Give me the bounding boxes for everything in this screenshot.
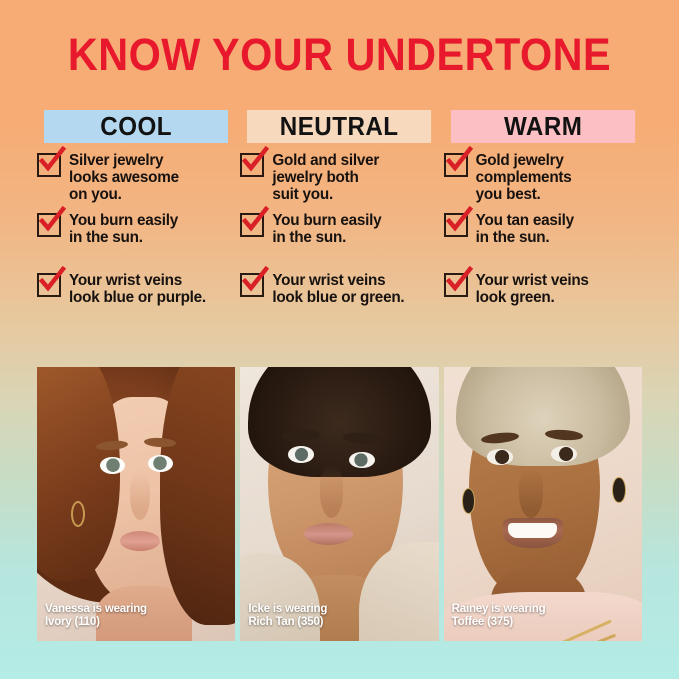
portrait-illustration-icke [240, 367, 438, 641]
checklist-item-label: Gold jewelry complements you best. [476, 152, 572, 203]
checklist-item-label: Your wrist veins look blue or purple. [69, 272, 206, 306]
checklist-grid: Silver jewelry looks awesome on you. Gol… [37, 152, 642, 332]
checklist-item-cool-3: Your wrist veins look blue or purple. [37, 272, 235, 332]
checkmark-icon [37, 213, 61, 237]
column-header-cool: COOL [44, 110, 228, 143]
model-photo-neutral: Icke is wearing Rich Tan (350) [240, 367, 438, 641]
checklist-item-cool-1: Silver jewelry looks awesome on you. [37, 152, 235, 212]
column-header-warm: WARM [451, 110, 635, 143]
checkmark-icon [444, 273, 468, 297]
model-photos: Vanessa is wearing Ivory (110) Icke is w… [37, 367, 642, 641]
checkmark-icon [240, 213, 264, 237]
checklist-item-warm-3: Your wrist veins look green. [444, 272, 642, 332]
checkmark-icon [444, 153, 468, 177]
checkmark-icon [240, 273, 264, 297]
column-header-neutral: NEUTRAL [247, 110, 431, 143]
photo-caption-warm: Rainey is wearing Toffee (375) [452, 603, 546, 629]
checklist-item-neutral-3: Your wrist veins look blue or green. [240, 272, 438, 332]
portrait-illustration-vanessa [37, 367, 235, 641]
checklist-item-neutral-2: You burn easily in the sun. [240, 212, 438, 272]
checklist-item-warm-2: You tan easily in the sun. [444, 212, 642, 272]
checklist-item-label: Your wrist veins look blue or green. [272, 272, 404, 306]
model-photo-warm: Rainey is wearing Toffee (375) [444, 367, 642, 641]
photo-caption-neutral: Icke is wearing Rich Tan (350) [248, 603, 327, 629]
checklist-item-cool-2: You burn easily in the sun. [37, 212, 235, 272]
photo-caption-cool: Vanessa is wearing Ivory (110) [45, 603, 147, 629]
checklist-item-label: You burn easily in the sun. [69, 212, 178, 246]
column-headers: COOL NEUTRAL WARM [37, 110, 642, 143]
checklist-item-label: Gold and silver jewelry both suit you. [272, 152, 379, 203]
checklist-item-label: Your wrist veins look green. [476, 272, 589, 306]
checklist-item-label: You tan easily in the sun. [476, 212, 574, 246]
checklist-item-label: Silver jewelry looks awesome on you. [69, 152, 179, 203]
checkmark-icon [444, 213, 468, 237]
page-title: KNOW YOUR UNDERTONE [27, 32, 652, 77]
checklist-item-label: You burn easily in the sun. [272, 212, 381, 246]
undertone-poster: KNOW YOUR UNDERTONE COOL NEUTRAL WARM Si… [0, 0, 679, 679]
checkmark-icon [240, 153, 264, 177]
checklist-item-neutral-1: Gold and silver jewelry both suit you. [240, 152, 438, 212]
checkmark-icon [37, 273, 61, 297]
model-photo-cool: Vanessa is wearing Ivory (110) [37, 367, 235, 641]
portrait-illustration-rainey [444, 367, 642, 641]
checklist-item-warm-1: Gold jewelry complements you best. [444, 152, 642, 212]
checkmark-icon [37, 153, 61, 177]
